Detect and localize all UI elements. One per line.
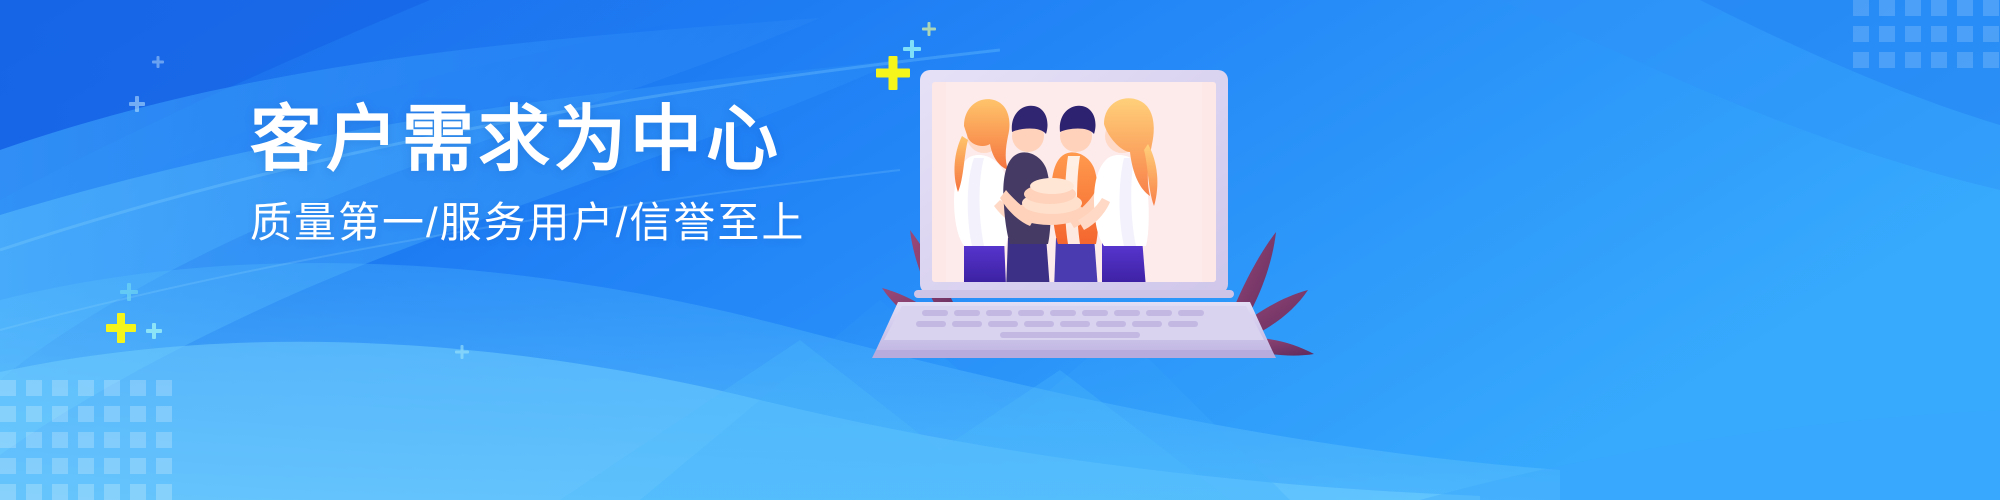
grid-bottom-left bbox=[0, 380, 172, 500]
text-block: 客户需求为中心 质量第一/服务用户/信誉至上 bbox=[250, 104, 810, 244]
plus-cyan-bottom-left-icon bbox=[146, 323, 162, 339]
page-title: 客户需求为中心 bbox=[250, 104, 810, 176]
page-subtitle: 质量第一/服务用户/信誉至上 bbox=[250, 202, 810, 244]
laptop-base bbox=[872, 290, 1276, 358]
plus-yellow-small-icon bbox=[922, 22, 936, 36]
grid-top-right bbox=[1853, 0, 1999, 68]
laptop-team-illustration bbox=[880, 40, 1310, 360]
promo-banner: 客户需求为中心 质量第一/服务用户/信誉至上 bbox=[0, 0, 2000, 500]
plus-white-left-icon bbox=[129, 96, 145, 112]
plus-cyan-upper-left-icon bbox=[120, 283, 138, 301]
team-handshake-scene bbox=[932, 82, 1216, 290]
plus-yellow-bottom-left-icon bbox=[106, 313, 136, 343]
plus-cyan-mid-icon bbox=[455, 345, 469, 359]
plus-white-upper-left-icon bbox=[152, 56, 164, 68]
